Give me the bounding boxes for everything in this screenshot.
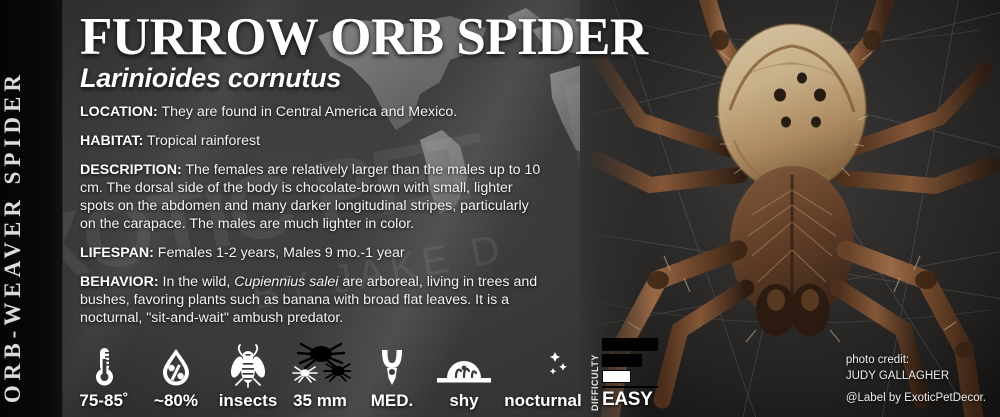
spider-size-icon	[289, 344, 351, 388]
fact-lifespan-label: LIFESPAN:	[80, 245, 154, 261]
insect-fly-icon	[229, 344, 267, 388]
fact-habitat: HABITAT: Tropical rainforest	[80, 132, 548, 150]
stat-temperament-value: shy	[449, 391, 478, 411]
page-title: FURROW ORB SPIDER	[80, 12, 680, 63]
humidity-drop-icon	[158, 344, 194, 388]
difficulty-baseline	[602, 386, 658, 388]
stat-temperament: shy	[428, 344, 500, 411]
stat-activity-value: nocturnal	[504, 391, 581, 411]
venom-fang-icon	[376, 344, 408, 388]
difficulty-meter: DIFFICULTY EASY	[590, 338, 658, 411]
stat-temperature: 75-85˚	[68, 344, 140, 411]
photo-credit-block: photo credit: JUDY GALLAGHER @Label by E…	[846, 353, 986, 407]
label-attribution: @Label by ExoticPetDecor.	[846, 391, 986, 407]
stat-diet-value: insects	[219, 391, 278, 411]
content-column: FURROW ORB SPIDER Larinioides cornutus L…	[80, 0, 680, 327]
fact-behavior-value-before: In the wild,	[163, 274, 235, 290]
thermometer-icon	[89, 344, 119, 388]
difficulty-bar-easy-active	[602, 370, 631, 383]
scientific-name: Larinioides cornutus	[80, 65, 680, 92]
sidebar-category-strip: ORB-WEAVER SPIDER	[0, 0, 63, 417]
fact-description: DESCRIPTION: The females are relatively …	[80, 161, 548, 233]
fact-behavior-label: BEHAVIOR:	[80, 274, 159, 290]
fact-behavior-species-italic: Cupiennius salei	[234, 274, 338, 290]
stat-venom-value: MED.	[371, 391, 414, 411]
fact-habitat-value: Tropical rainforest	[147, 133, 260, 149]
fact-lifespan: LIFESPAN: Females 1-2 years, Males 9 mo.…	[80, 244, 548, 262]
sidebar-category-label: ORB-WEAVER SPIDER	[0, 70, 62, 403]
credit-spacer	[846, 384, 986, 391]
moon-stars-icon	[517, 344, 569, 388]
stat-venom: MED.	[356, 344, 428, 411]
fact-location-value: They are found in Central America and Me…	[161, 104, 457, 120]
fact-behavior: BEHAVIOR: In the wild, Cupiennius salei …	[80, 273, 548, 327]
species-label-card: DECOR EXOTIC PET BY JAKE D	[0, 0, 1000, 417]
stat-diet: insects	[212, 344, 284, 411]
temperament-hide-icon	[433, 344, 495, 388]
fact-description-label: DESCRIPTION:	[80, 162, 182, 178]
stat-humidity: ~80%	[140, 344, 212, 411]
difficulty-axis-label: DIFFICULTY	[590, 359, 601, 411]
stats-icon-row: 75-85˚ ~80%	[68, 338, 658, 411]
difficulty-value: EASY	[602, 389, 653, 411]
fact-location-label: LOCATION:	[80, 104, 158, 120]
difficulty-bar-medium	[602, 354, 642, 367]
stat-humidity-value: ~80%	[154, 391, 198, 411]
photo-credit-name: JUDY GALLAGHER	[846, 369, 986, 385]
fact-lifespan-value: Females 1-2 years, Males 9 mo.-1 year	[158, 245, 405, 261]
difficulty-bars: EASY	[602, 338, 658, 411]
photo-credit-label: photo credit:	[846, 353, 986, 369]
stat-activity: nocturnal	[500, 344, 586, 411]
stat-size: 35 mm	[284, 344, 356, 411]
difficulty-bar-hard	[602, 338, 658, 351]
stat-temperature-value: 75-85˚	[79, 391, 128, 411]
fact-habitat-label: HABITAT:	[80, 133, 143, 149]
stat-size-value: 35 mm	[293, 391, 347, 411]
fact-location: LOCATION: They are found in Central Amer…	[80, 103, 548, 121]
